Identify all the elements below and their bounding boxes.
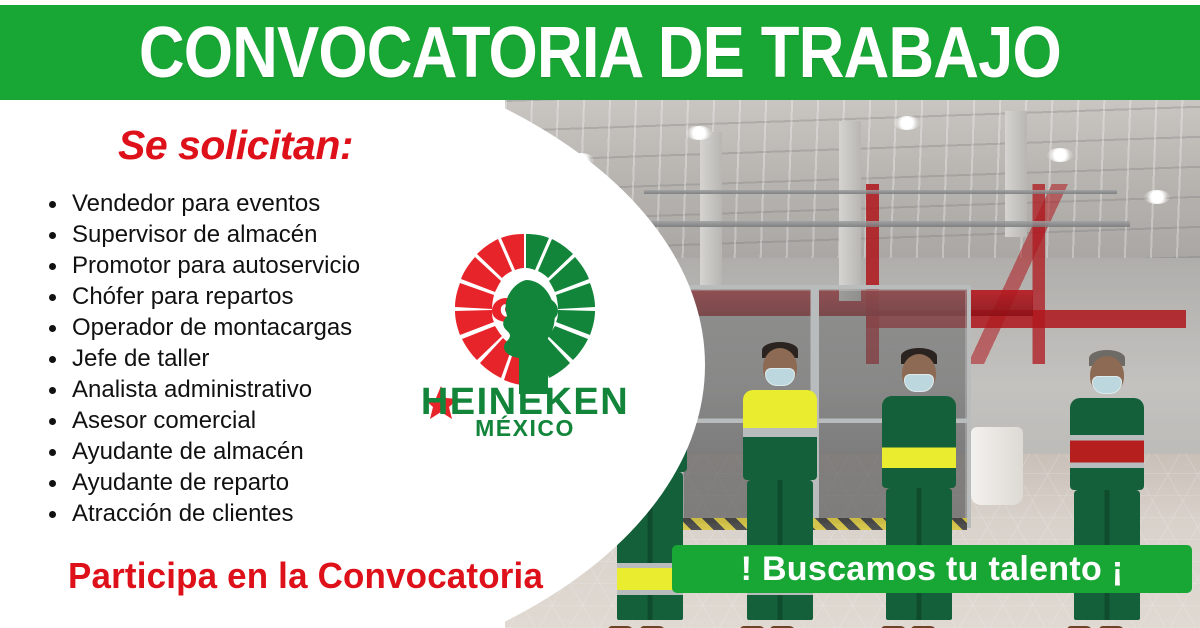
header-banner: CONVOCATORIA DE TRABAJO [0, 5, 1200, 100]
logo-country-text: MÉXICO [475, 414, 575, 438]
face-mask-icon [765, 368, 795, 386]
section-subtitle: Se solicitan: [118, 122, 353, 169]
worker-torso [743, 390, 817, 480]
ceiling-light [1144, 190, 1170, 204]
white-waste-bin [971, 427, 1023, 505]
job-posting-poster: CONVOCATORIA DE TRABAJO 5 [0, 0, 1200, 628]
face-mask-icon [1092, 376, 1122, 394]
list-item: Vendedor para eventos [42, 188, 360, 219]
job-list: Vendedor para eventos Supervisor de alma… [42, 188, 360, 529]
list-item: Chófer para repartos [42, 281, 360, 312]
list-item: Supervisor de almacén [42, 219, 360, 250]
overhead-pipe [644, 190, 1117, 194]
logo-emblem-icon [455, 234, 595, 394]
list-item: Asesor comercial [42, 405, 360, 436]
call-to-action-text: Participa en la Convocatoria [68, 555, 543, 597]
talent-banner-text: ! Buscamos tu talento ¡ [741, 550, 1124, 589]
list-item: Operador de montacargas [42, 312, 360, 343]
face-mask-icon [904, 374, 934, 392]
ceiling-light [894, 116, 920, 130]
heineken-mexico-logo: HEINEKEN MÉXICO [420, 218, 630, 438]
support-column [1005, 111, 1027, 238]
ceiling-light [1047, 148, 1073, 162]
list-item: Promotor para autoservicio [42, 250, 360, 281]
support-column [700, 132, 722, 290]
list-item: Ayudante de almacén [42, 436, 360, 467]
list-item: Atracción de clientes [42, 498, 360, 529]
worker-torso [882, 396, 956, 488]
talent-banner: ! Buscamos tu talento ¡ [672, 545, 1192, 593]
worker-torso [1070, 398, 1144, 490]
list-item: Jefe de taller [42, 343, 360, 374]
list-item: Analista administrativo [42, 374, 360, 405]
list-item: Ayudante de reparto [42, 467, 360, 498]
support-column [839, 121, 861, 301]
page-title: CONVOCATORIA DE TRABAJO [139, 17, 1061, 89]
